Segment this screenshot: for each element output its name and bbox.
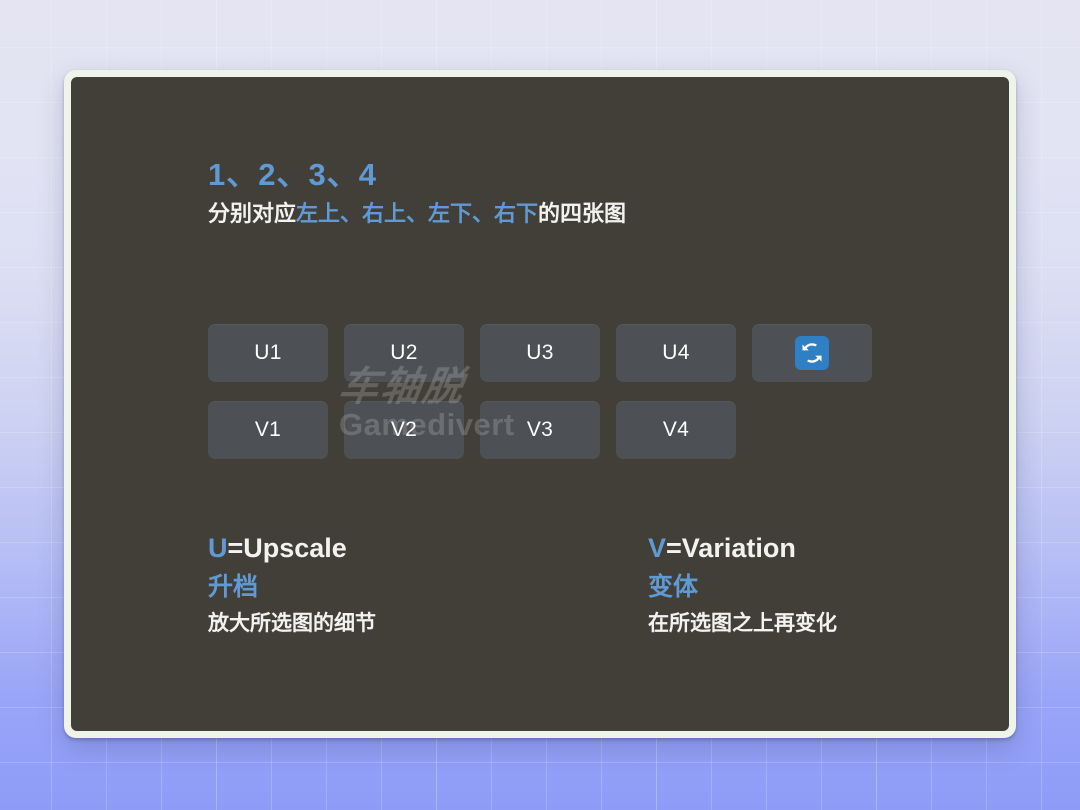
heading-desc-prefix: 分别对应 (208, 201, 296, 226)
screenshot-card-inner: 1、2、3、4 分别对应左上、右上、左下、右下的四张图 U1 U2 U3 U4 (71, 77, 1009, 731)
heading-desc-suffix: 的四张图 (538, 201, 626, 226)
legend-variation-sub: 在所选图之上再变化 (648, 611, 837, 637)
wallpaper-stage: 1、2、3、4 分别对应左上、右上、左下、右下的四张图 U1 U2 U3 U4 (0, 0, 1080, 810)
legend-upscale-en: =Upscale (228, 533, 347, 563)
legend-upscale: U=Upscale 升档 放大所选图的细节 (208, 532, 376, 637)
legend-upscale-title: U=Upscale (208, 532, 376, 566)
upscale-button-row: U1 U2 U3 U4 (208, 324, 872, 382)
heading-desc-highlight: 左上、右上、左下、右下 (296, 201, 538, 226)
heading-description: 分别对应左上、右上、左下、右下的四张图 (208, 200, 626, 229)
variation-1-button[interactable]: V1 (208, 401, 328, 459)
upscale-3-button[interactable]: U3 (480, 324, 600, 382)
upscale-1-button[interactable]: U1 (208, 324, 328, 382)
variation-2-button[interactable]: V2 (344, 401, 464, 459)
legend-variation-title: V=Variation (648, 532, 837, 566)
variation-4-button[interactable]: V4 (616, 401, 736, 459)
legend-upscale-cn: 升档 (208, 572, 376, 603)
legend-variation-en: =Variation (666, 533, 796, 563)
legend-variation: V=Variation 变体 在所选图之上再变化 (648, 532, 837, 637)
heading-numbers: 1、2、3、4 (208, 157, 626, 193)
refresh-icon (795, 336, 829, 370)
upscale-2-button[interactable]: U2 (344, 324, 464, 382)
reroll-button[interactable] (752, 324, 872, 382)
legend-upscale-sub: 放大所选图的细节 (208, 611, 376, 637)
legend-variation-cn: 变体 (648, 572, 837, 603)
variation-button-row: V1 V2 V3 V4 (208, 401, 736, 459)
heading-block: 1、2、3、4 分别对应左上、右上、左下、右下的四张图 (208, 157, 626, 228)
legend-upscale-key: U (208, 533, 228, 563)
legend-variation-key: V (648, 533, 666, 563)
screenshot-card: 1、2、3、4 分别对应左上、右上、左下、右下的四张图 U1 U2 U3 U4 (64, 70, 1016, 738)
variation-3-button[interactable]: V3 (480, 401, 600, 459)
upscale-4-button[interactable]: U4 (616, 324, 736, 382)
